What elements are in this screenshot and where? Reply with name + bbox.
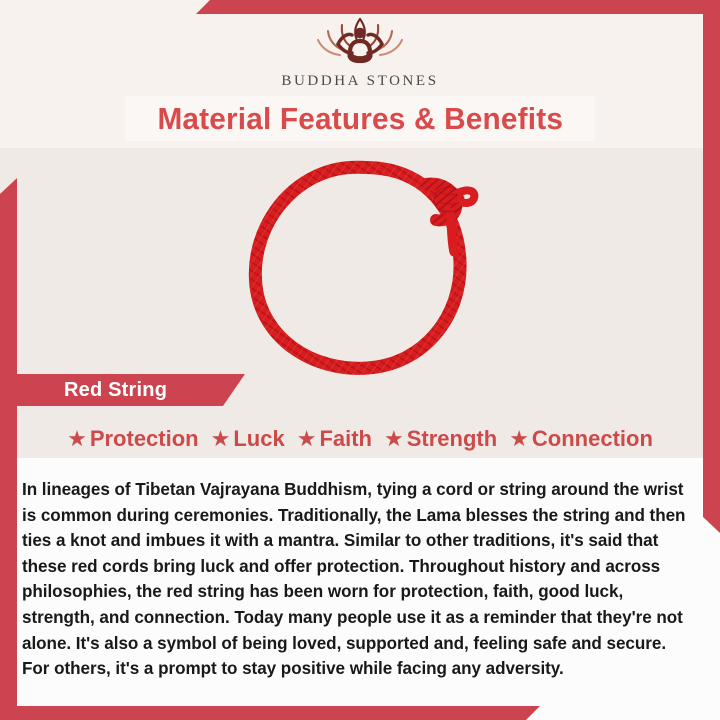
brand-logo: BUDDHA STONES <box>0 16 720 94</box>
benefits-list: ★ Protection ★ Luck ★ Faith ★ Strength ★… <box>17 420 703 458</box>
benefit-label: Strength <box>407 426 497 452</box>
title-banner: Material Features & Benefits <box>125 96 595 141</box>
star-icon: ★ <box>509 428 529 450</box>
product-label-banner: Red String <box>17 374 245 406</box>
frame-bar-left <box>0 178 17 720</box>
product-label: Red String <box>64 379 167 402</box>
infographic-page: BUDDHA STONES Material Features & Benefi… <box>0 0 720 720</box>
star-icon: ★ <box>384 428 404 450</box>
page-title: Material Features & Benefits <box>157 101 563 137</box>
description-paragraph: In lineages of Tibetan Vajrayana Buddhis… <box>22 477 694 682</box>
benefit-label: Connection <box>532 426 653 452</box>
benefit-label: Faith <box>319 426 372 452</box>
benefit-label: Protection <box>90 426 199 452</box>
benefit-label: Luck <box>233 426 284 452</box>
lotus-meditation-figure-icon <box>298 16 422 72</box>
frame-bar-top <box>196 0 720 14</box>
frame-bar-bottom <box>0 706 540 720</box>
star-icon: ★ <box>67 428 87 450</box>
benefit-item-luck: ★ Luck <box>211 426 285 452</box>
benefit-item-connection: ★ Connection <box>509 426 653 452</box>
benefit-item-protection: ★ Protection <box>67 426 199 452</box>
benefit-item-strength: ★ Strength <box>384 426 497 452</box>
benefit-item-faith: ★ Faith <box>297 426 372 452</box>
product-image-red-string-bracelet <box>228 156 492 380</box>
brand-name: BUDDHA STONES <box>281 73 438 90</box>
star-icon: ★ <box>297 428 317 450</box>
star-icon: ★ <box>211 428 231 450</box>
